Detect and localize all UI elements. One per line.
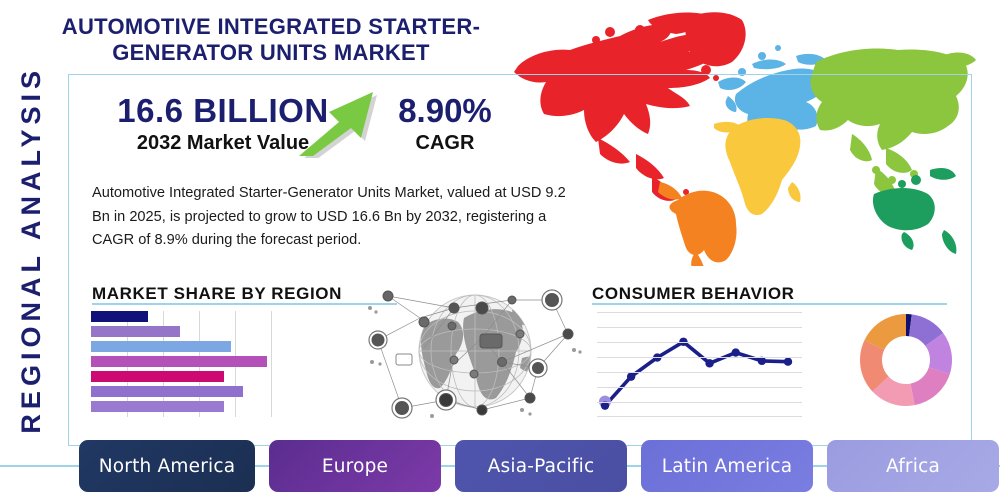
tab-connector [441, 465, 455, 467]
bar-row [91, 311, 148, 322]
description-text: Automotive Integrated Starter-Generator … [92, 182, 572, 253]
consumer-behavior-rule [592, 303, 947, 305]
world-map-icon [500, 4, 980, 266]
region-tab-north-america[interactable]: North America [79, 440, 255, 492]
line-chart-gridlines [597, 312, 802, 417]
region-tab-asia-pacific[interactable]: Asia-Pacific [455, 440, 627, 492]
region-share-donut-chart [858, 312, 954, 408]
page-title: AUTOMOTIVE INTEGRATED STARTER-GENERATOR … [36, 14, 506, 67]
region-tab-europe[interactable]: Europe [269, 440, 441, 492]
region-tab-label: Africa [886, 456, 940, 477]
global-network-icon [362, 278, 588, 424]
tab-connector [627, 465, 641, 467]
cagr-figure: 8.90% [380, 92, 510, 130]
growth-arrow-icon [295, 86, 385, 158]
region-tab-label: North America [99, 456, 236, 477]
bar-row [91, 371, 224, 382]
tab-connector [813, 465, 827, 467]
infographic-root: REGIONAL ANALYSIS AUTOMOTIVE INTEGRATED … [0, 0, 1000, 500]
section-title-consumer-behavior: CONSUMER BEHAVIOR [592, 284, 795, 304]
cagr-label: CAGR [380, 132, 510, 155]
region-tab-latin-america[interactable]: Latin America [641, 440, 813, 492]
region-tab-label: Europe [322, 456, 388, 477]
consumer-behavior-line-chart [597, 312, 802, 417]
section-title-market-share: MARKET SHARE BY REGION [92, 284, 342, 304]
region-tab-label: Latin America [662, 456, 793, 477]
tabs-left-rail [0, 465, 80, 467]
side-label-text: REGIONAL ANALYSIS [16, 66, 47, 434]
region-tab-label: Asia-Pacific [488, 456, 595, 477]
region-tab-africa[interactable]: Africa [827, 440, 999, 492]
donut-segment [910, 367, 949, 405]
bar-row [91, 386, 243, 397]
bar-row [91, 356, 267, 367]
tab-connector [255, 465, 269, 467]
bar-row [91, 401, 224, 412]
regional-analysis-side-label: REGIONAL ANALYSIS [0, 40, 62, 460]
market-share-bar-chart [91, 311, 306, 417]
market-share-rule [92, 303, 397, 305]
bar-row [91, 341, 231, 352]
bar-row [91, 326, 180, 337]
